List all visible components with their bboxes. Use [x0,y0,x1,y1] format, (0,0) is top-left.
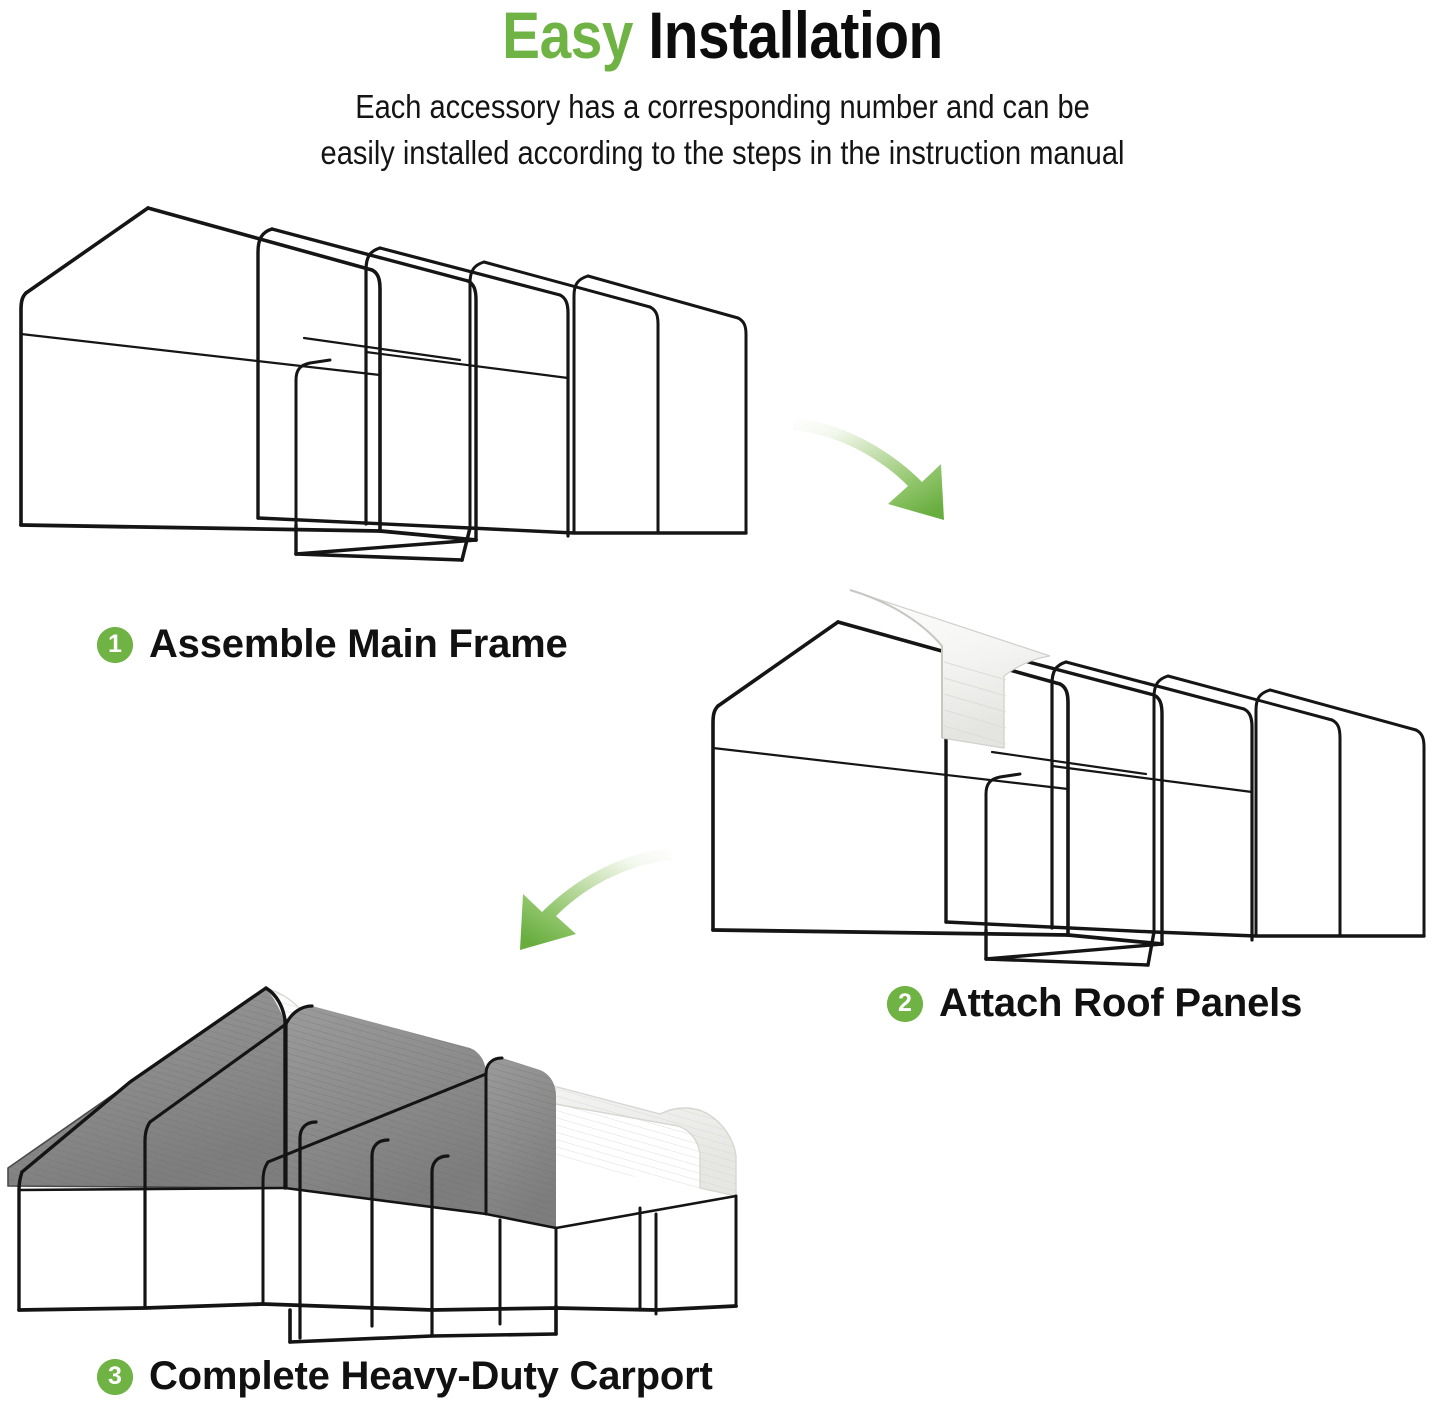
illustration-attach-roof-panels [690,578,1445,970]
step-3-badge: 3 [97,1359,133,1395]
step-3-label: Complete Heavy-Duty Carport [149,1354,713,1399]
page-title: Easy Installation [101,0,1344,68]
carport-frame-with-roof-panel-svg [690,578,1445,970]
page-subtitle: Each accessory has a corresponding numbe… [87,68,1359,175]
step-2-badge: 2 [887,986,923,1022]
page-subtitle-line-2: easily installed according to the steps … [87,130,1359,176]
illustration-assemble-main-frame [0,188,760,563]
illustration-complete-carport [0,958,790,1348]
carport-bare-frame-svg [0,188,760,563]
step-caption-2: 2 Attach Roof Panels [887,981,1302,1026]
step-1-label: Assemble Main Frame [149,622,568,667]
carport-completed-svg [0,958,790,1348]
page-subtitle-line-1: Each accessory has a corresponding numbe… [87,84,1359,130]
arrow-body [792,418,944,520]
step-caption-3: 3 Complete Heavy-Duty Carport [97,1354,713,1399]
arrow-step1-to-step2 [790,408,970,520]
infographic-page: Easy Installation Each accessory has a c… [0,0,1445,1411]
step-1-badge: 1 [97,627,133,663]
step-2-label: Attach Roof Panels [939,981,1302,1026]
arrow-body [520,848,672,950]
roof-slope-gray [8,988,556,1228]
page-title-rest: Installation [633,0,943,72]
header: Easy Installation Each accessory has a c… [0,0,1445,175]
page-title-accent: Easy [502,0,633,72]
arrow-down-right-icon [790,408,970,520]
arrow-down-left-icon [478,838,674,952]
arrow-step2-to-step3 [478,838,674,952]
roof-panel [850,590,1050,748]
step-caption-1: 1 Assemble Main Frame [97,622,568,667]
